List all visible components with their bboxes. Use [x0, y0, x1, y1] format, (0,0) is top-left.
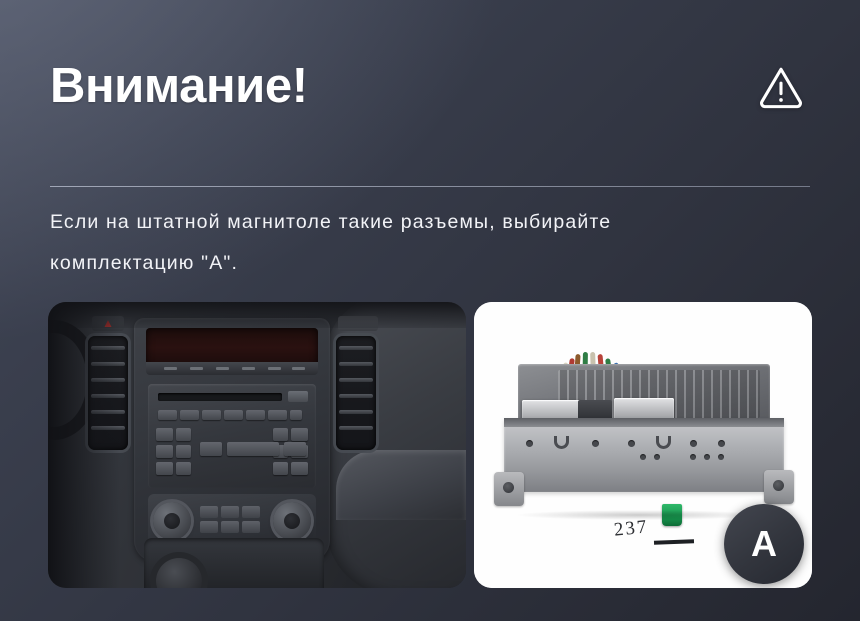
preset-button-row: [158, 410, 302, 420]
page-title: Внимание!: [50, 62, 308, 111]
warning-slide: Внимание! Если на штатной магнитоле таки…: [0, 0, 860, 621]
climate-knob-left: [153, 502, 191, 540]
dashboard-glovebox-lip: [336, 450, 466, 520]
warning-triangle-icon: [758, 63, 804, 109]
instruction-line-2: комплектацию "A".: [50, 243, 820, 284]
unit-marking: 237: [613, 516, 650, 541]
factory-radio-unit: [148, 384, 316, 488]
head-unit-photo: 237 A: [474, 302, 812, 588]
eject-button: [288, 391, 308, 402]
climate-buttons: [200, 506, 260, 533]
unit-marking-underline: [654, 539, 694, 544]
instruction-line-1: Если на штатной магнитоле такие разъемы,…: [50, 202, 820, 243]
instruction-text: Если на штатной магнитоле такие разъемы,…: [50, 202, 820, 284]
photo-row: 237 A: [48, 302, 812, 588]
rear-face-edge: [504, 418, 784, 427]
head-unit-chassis: 237: [502, 364, 786, 514]
radio-left-buttons-2: [176, 428, 191, 475]
option-badge-a: A: [724, 504, 804, 584]
dashboard-scene: [48, 302, 466, 588]
air-vent-right: [336, 336, 376, 450]
radio-left-buttons: [156, 428, 173, 475]
dashboard-left-shadow: [48, 302, 120, 588]
mount-slot-left: [554, 436, 569, 449]
head-unit-shadow: [514, 510, 764, 520]
header-divider: [50, 186, 810, 187]
dashboard-photo: [48, 302, 466, 588]
center-stack: [134, 318, 330, 562]
cd-slot: [158, 393, 282, 401]
radio-center-buttons: [200, 442, 306, 456]
mounting-bracket-left: [494, 472, 524, 506]
head-unit-backdrop: 237 A: [474, 302, 812, 588]
head-unit-rear-face: 237: [504, 418, 784, 492]
display-button-strip: [146, 362, 318, 375]
slide-header: Внимание!: [50, 46, 810, 126]
mounting-bracket-right: [764, 470, 794, 504]
mount-slot-right: [656, 436, 671, 449]
climate-knob-right: [273, 502, 311, 540]
